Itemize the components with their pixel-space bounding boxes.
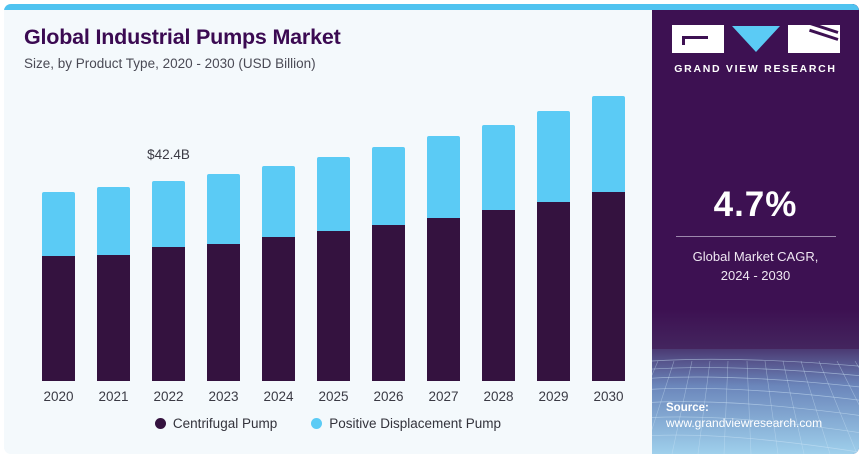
bar-2030[interactable] [592,96,625,381]
cagr-value: 4.7% [652,187,859,222]
brand-wordmark: GRAND VIEW RESEARCH [652,63,859,75]
bar-2027[interactable] [427,136,460,381]
bar-segment-centrifugal [427,218,460,381]
bar-segment-centrifugal [592,192,625,381]
v-triangle-icon [730,25,782,53]
legend-swatch-icon [155,418,166,429]
bar-segment-centrifugal [152,247,185,381]
x-axis-label-2020: 2020 [43,389,73,404]
bar-segment-centrifugal [262,237,295,381]
x-axis-label-2027: 2027 [428,389,458,404]
bar-2022[interactable] [152,181,185,381]
card-frame: Global Industrial Pumps Market Size, by … [4,4,859,454]
bar-segment-positive-displacement [427,136,460,218]
g-mark-icon [672,25,724,53]
bar-segment-centrifugal [537,202,570,381]
bar-segment-positive-displacement [262,166,295,237]
legend-item-centrifugal[interactable]: Centrifugal Pump [155,416,277,431]
bar-segment-centrifugal [207,244,240,381]
bar-segment-positive-displacement [42,192,75,256]
bar-segment-positive-displacement [207,174,240,244]
chart-legend: Centrifugal Pump Positive Displacement P… [4,416,652,431]
chart-panel: Global Industrial Pumps Market Size, by … [4,4,652,454]
bar-segment-centrifugal [317,231,350,381]
x-axis-label-2024: 2024 [263,389,293,404]
brand-logo: GRAND VIEW RESEARCH [652,24,859,75]
bar-2023[interactable] [207,174,240,381]
cagr-label-line1: Global Market CAGR, [652,248,859,267]
legend-label: Centrifugal Pump [173,416,277,431]
bar-2025[interactable] [317,157,350,381]
x-axis-label-2029: 2029 [538,389,568,404]
stacked-bar-chart: 2020202120222023202420252026202720282029… [4,4,652,454]
bar-segment-positive-displacement [152,181,185,247]
x-axis-label-2023: 2023 [208,389,238,404]
bar-segment-positive-displacement [372,147,405,225]
bar-segment-centrifugal [482,210,515,381]
bar-2028[interactable] [482,125,515,381]
bar-segment-centrifugal [97,255,130,381]
infographic-canvas: Global Industrial Pumps Market Size, by … [0,0,863,458]
logo-marks [652,24,859,54]
accent-top-bar [4,4,859,10]
bar-segment-positive-displacement [482,125,515,210]
legend-swatch-icon [311,418,322,429]
bar-2024[interactable] [262,166,295,381]
bar-segment-positive-displacement [537,111,570,202]
source-block: Source: www.grandviewresearch.com [666,401,822,432]
bar-segment-centrifugal [372,225,405,381]
x-axis-label-2028: 2028 [483,389,513,404]
divider [676,236,836,237]
cagr-label-line2: 2024 - 2030 [652,267,859,286]
brand-side-panel: GRAND VIEW RESEARCH 4.7% Global Market C… [652,4,859,454]
x-axis-label-2026: 2026 [373,389,403,404]
bar-2020[interactable] [42,192,75,381]
x-axis-label-2025: 2025 [318,389,348,404]
legend-item-positive-displacement[interactable]: Positive Displacement Pump [311,416,501,431]
bar-2029[interactable] [537,111,570,381]
x-axis-label-2021: 2021 [98,389,128,404]
source-url[interactable]: www.grandviewresearch.com [666,416,822,432]
x-axis-label-2030: 2030 [593,389,623,404]
cagr-label: Global Market CAGR, 2024 - 2030 [652,248,859,286]
bar-2021[interactable] [97,187,130,381]
bar-segment-positive-displacement [592,96,625,192]
cagr-block: 4.7% Global Market CAGR, 2024 - 2030 [652,187,859,286]
bar-segment-positive-displacement [97,187,130,255]
legend-label: Positive Displacement Pump [329,416,501,431]
bar-segment-centrifugal [42,256,75,381]
data-label-2022: $42.4B [147,147,190,162]
source-title: Source: [666,401,822,416]
bar-2026[interactable] [372,147,405,381]
r-mark-icon [788,25,840,53]
x-axis-label-2022: 2022 [153,389,183,404]
bar-segment-positive-displacement [317,157,350,231]
